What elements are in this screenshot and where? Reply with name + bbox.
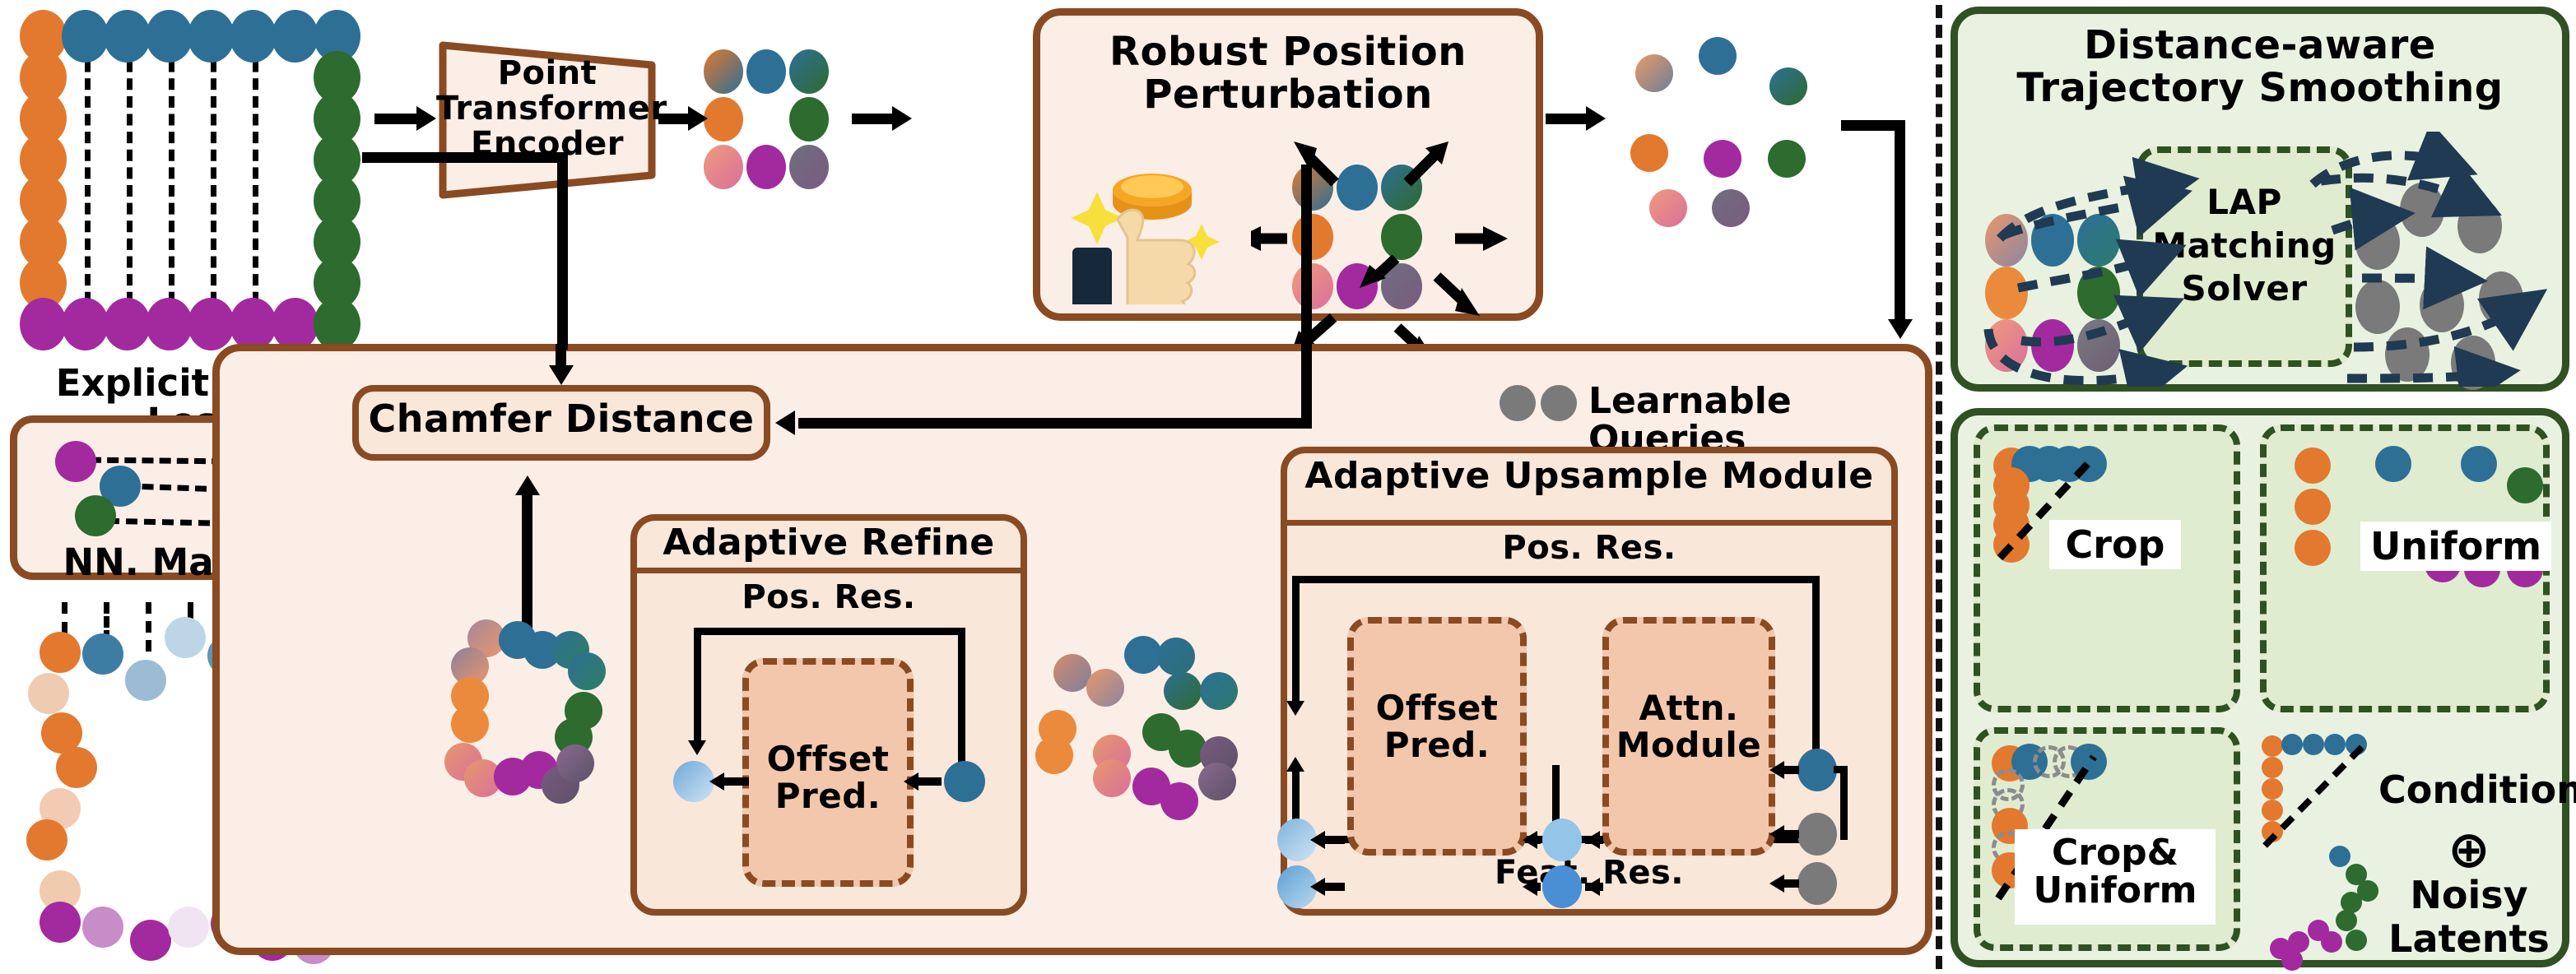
feature-token [1198, 763, 1236, 800]
point-marker [230, 298, 277, 350]
intermediate-token-cluster [1035, 613, 1266, 843]
point-marker [2375, 446, 2411, 482]
point-marker [230, 10, 277, 63]
feature-token [746, 49, 786, 94]
flow-arrow-perturbation-out [1546, 114, 1588, 124]
feature-token [1768, 140, 1806, 178]
offset-pred-label-upsample: Offset Pred. [1347, 689, 1527, 764]
flow-arrow-head [1769, 761, 1784, 779]
feature-token [704, 145, 743, 189]
point-marker [28, 673, 69, 714]
trajectory-smoothing-label: Distance-aware Trajectory Smoothing [1951, 25, 2569, 110]
feature-token [789, 49, 829, 94]
feature-token [556, 744, 594, 782]
point-marker [146, 298, 193, 350]
thumbs-up-coin-icon [1066, 160, 1247, 304]
feature-token [1157, 638, 1195, 675]
flow-arrow-head [1310, 831, 1325, 849]
flow-arrow-down-to-main [1895, 120, 1905, 322]
pos-res-skip-path [694, 628, 965, 635]
flow-arrow-head [549, 365, 574, 385]
adaptive-refine-label: Adaptive Refine [630, 523, 1027, 563]
point-marker [2295, 530, 2331, 566]
feature-token [1160, 782, 1198, 820]
upsample-arrow [1531, 836, 1541, 844]
flow-line-from-input [557, 152, 568, 350]
flow-arrow-head [1286, 701, 1304, 716]
adaptive-refine-header-rule [637, 568, 1021, 573]
upsample-pos-res-label: Pos. Res. [1281, 531, 1898, 566]
pos-res-skip-path [958, 628, 965, 766]
pos-res-skip-path [694, 628, 701, 743]
feature-token [1200, 672, 1238, 710]
crop-uniform-label: Crop& Uniform [2015, 829, 2216, 925]
flow-arrow-encoder-to-tokens [658, 114, 691, 124]
upsample-pos-res-path [1292, 576, 1300, 703]
point-marker [2295, 489, 2331, 525]
point-marker [125, 660, 166, 701]
perturbation-arrows [1251, 123, 1514, 370]
query-token-mid [1542, 865, 1582, 908]
flow-arrow-head [1585, 878, 1600, 896]
query-token-grey [1541, 385, 1577, 421]
upsample-pos-res-path [1812, 576, 1820, 772]
flow-arrow-head [904, 772, 918, 791]
feature-token [1769, 67, 1807, 105]
feature-token [789, 97, 829, 141]
condition-label: Condition [2378, 770, 2560, 809]
flow-arrow-head [1769, 825, 1784, 843]
plus-circle-icon: ⊕ [2420, 823, 2518, 876]
correspondence-dashed-line [146, 602, 151, 652]
point-marker [165, 617, 206, 658]
uniform-label: Uniform [2360, 522, 2551, 571]
crop-label: Crop [2049, 520, 2181, 569]
correspondence-dashed-line [85, 43, 91, 339]
feature-token [789, 145, 829, 189]
point-marker [40, 632, 81, 673]
flow-arrow-head [892, 106, 912, 131]
point-marker [104, 298, 151, 350]
flow-arrow-tokens-to-perturbation [852, 114, 895, 124]
flow-arrow-head [1310, 878, 1325, 896]
point-marker [55, 441, 96, 482]
flow-arrow-head [688, 740, 706, 755]
perturbed-output-tokens [1621, 25, 1860, 230]
flow-arrow-head [1586, 106, 1606, 131]
point-marker [168, 907, 209, 948]
point-marker [20, 298, 67, 350]
query-token-grey [1500, 385, 1536, 421]
feature-token [1704, 140, 1741, 178]
feature-token [1093, 759, 1131, 797]
input-point-grid [0, 0, 387, 370]
upsample-feedback-path [1840, 766, 1848, 840]
flow-arrow-head [1888, 319, 1913, 339]
point-marker [272, 298, 319, 350]
point-marker [75, 495, 116, 536]
point-marker [146, 10, 193, 63]
point-marker [130, 920, 171, 961]
feature-token [1630, 134, 1668, 172]
query-token-dark [944, 761, 985, 802]
chamfer-distance-label: Chamfer Distance [352, 399, 770, 440]
flow-arrow-head [688, 106, 708, 131]
point-marker [82, 633, 123, 675]
flow-arrow-head [709, 772, 724, 791]
feature-token [746, 145, 786, 189]
upsample-feedback-path [1834, 766, 1848, 773]
point-marker [188, 10, 235, 63]
point-marker [2295, 448, 2331, 484]
point-marker [314, 298, 360, 350]
trajectory-arrows [1967, 132, 2568, 387]
noisy-latents-label: Noisy Latents [2372, 874, 2566, 961]
point-transformer-encoder-label: Point Transformer Encoder [436, 56, 658, 163]
feature-token [1649, 189, 1687, 227]
point-marker [56, 747, 97, 788]
flow-arrow-head [1286, 757, 1304, 772]
point-marker [2507, 467, 2543, 503]
flow-arrow-head [1585, 831, 1600, 849]
flow-arrow-into-chamfer-right [798, 418, 1312, 429]
feature-token [704, 49, 743, 94]
query-token-light [673, 761, 714, 802]
point-marker [188, 298, 235, 350]
encoder-token-grid [704, 49, 835, 189]
flow-arrow-into-chamfer-right [1301, 165, 1312, 428]
point-marker [40, 902, 81, 943]
attn-module-label: Attn. Module [1602, 689, 1775, 764]
query-token-grey [1797, 813, 1837, 856]
correspondence-dashed-line [253, 43, 258, 339]
feature-token [451, 705, 489, 743]
feature-token [1164, 672, 1202, 710]
robust-position-perturbation-label: Robust Position Perturbation [1033, 31, 1543, 117]
query-token-dark [1797, 749, 1837, 791]
correspondence-dashed-line [127, 43, 133, 339]
flow-arrow-head [515, 475, 540, 495]
flow-arrow-head [416, 106, 436, 131]
feature-token [704, 97, 743, 141]
query-token-light [1542, 819, 1582, 861]
feature-token [1635, 54, 1673, 92]
feature-token [1699, 37, 1737, 75]
adaptive-refine-pos-res-label: Pos. Res. [630, 580, 1027, 615]
feature-token [568, 652, 606, 690]
point-marker [272, 10, 319, 63]
adaptive-upsample-label: Adaptive Upsample Module [1281, 457, 1898, 496]
feature-token [1035, 736, 1073, 774]
point-marker [2461, 446, 2497, 482]
upsample-arrow [1531, 883, 1541, 891]
correspondence-dashed-line [62, 602, 67, 633]
query-token-grey [1797, 862, 1837, 905]
point-marker [26, 819, 67, 860]
adaptive-upsample-header-rule [1286, 520, 1893, 526]
point-marker [82, 907, 123, 948]
section-divider [1936, 5, 1942, 969]
offset-pred-label-refine: Offset Pred. [742, 740, 914, 815]
correspondence-dashed-line [211, 43, 216, 339]
point-marker [104, 10, 151, 63]
flow-line-from-input [362, 152, 568, 163]
refine-arrow-left [721, 777, 749, 786]
flow-arrow-ring-to-chamfer [522, 494, 532, 629]
feature-token [1712, 189, 1750, 227]
point-marker [62, 298, 109, 350]
flow-arrow-head [775, 410, 795, 435]
correspondence-dashed-line [169, 43, 174, 339]
refined-point-ring [444, 613, 642, 851]
flow-arrow-head [1769, 874, 1784, 893]
upsample-pos-res-path [1292, 576, 1819, 583]
feature-token [1086, 669, 1124, 707]
point-marker [62, 10, 109, 63]
flow-arrow-input-to-encoder [374, 114, 419, 124]
